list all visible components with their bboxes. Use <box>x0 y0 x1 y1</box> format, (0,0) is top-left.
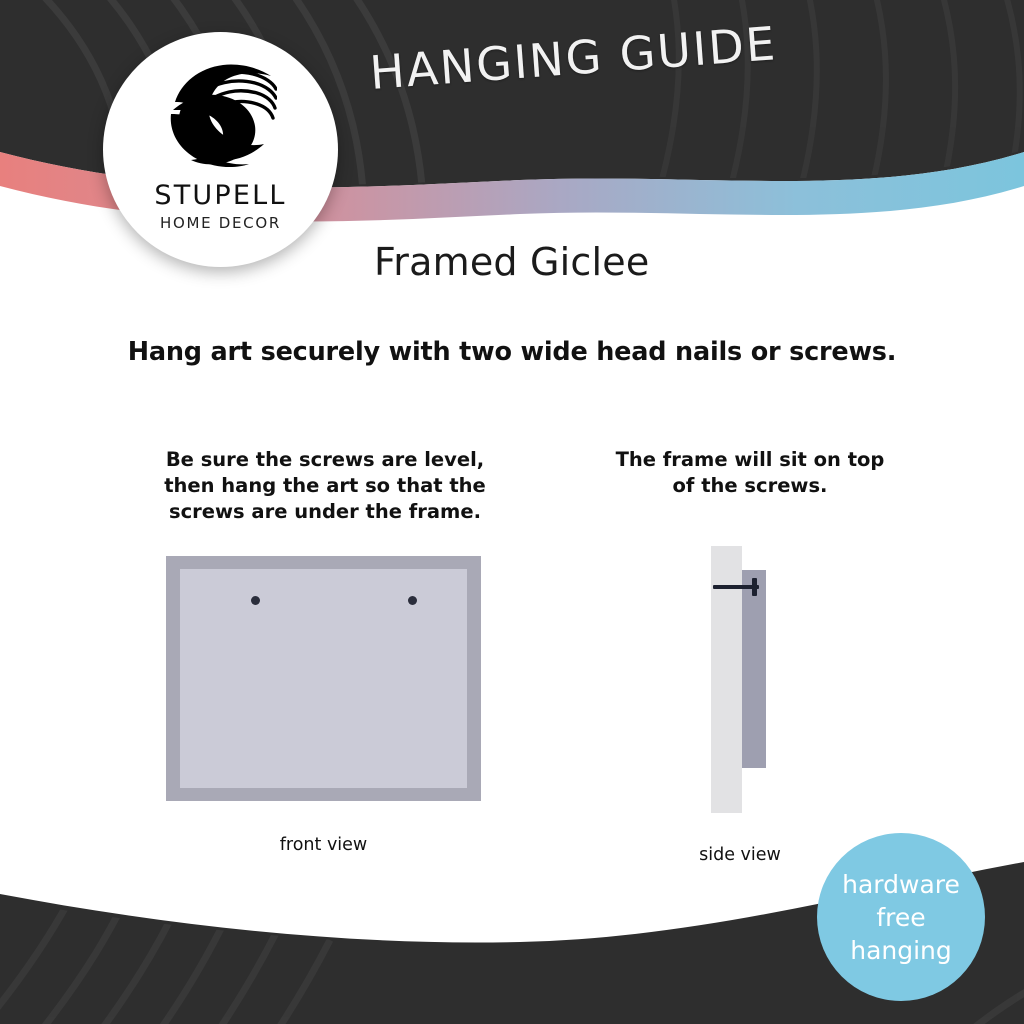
main-instruction-text: Hang art securely with two wide head nai… <box>0 337 1024 367</box>
side-view-screw-head-icon <box>752 578 757 596</box>
hanging-guide-page: HANGING GUIDE STUPELL HOME DECOR Framed … <box>0 0 1024 1024</box>
logo-wordmark: STUPELL <box>154 180 286 211</box>
front-view-frame-interior <box>180 569 467 788</box>
product-type-title: Framed Giclee <box>374 240 649 284</box>
hardware-free-hanging-badge: hardware free hanging <box>817 833 985 1001</box>
badge-line-2: free <box>876 901 925 934</box>
stupell-swoosh-icon <box>165 54 277 172</box>
badge-line-3: hanging <box>850 934 952 967</box>
page-title: HANGING GUIDE <box>368 8 891 100</box>
front-view-label: front view <box>166 835 481 855</box>
front-view-frame-diagram <box>166 556 481 801</box>
side-view-caption: The frame will sit on top of the screws. <box>600 447 900 499</box>
side-view-frame-diagram <box>742 570 766 768</box>
badge-line-1: hardware <box>842 868 960 901</box>
brand-logo-badge: STUPELL HOME DECOR <box>103 32 338 267</box>
front-view-caption: Be sure the screws are level, then hang … <box>160 447 490 525</box>
front-caption-line-2: then hang the art so that the <box>160 473 490 499</box>
side-view-label: side view <box>650 845 830 865</box>
side-caption-line-2: of the screws. <box>600 473 900 499</box>
front-caption-line-3: screws are under the frame. <box>160 499 490 525</box>
logo-subwordmark: HOME DECOR <box>160 214 281 232</box>
screw-dot-right-icon <box>408 596 417 605</box>
screw-dot-left-icon <box>251 596 260 605</box>
side-caption-line-1: The frame will sit on top <box>600 447 900 473</box>
front-caption-line-1: Be sure the screws are level, <box>160 447 490 473</box>
